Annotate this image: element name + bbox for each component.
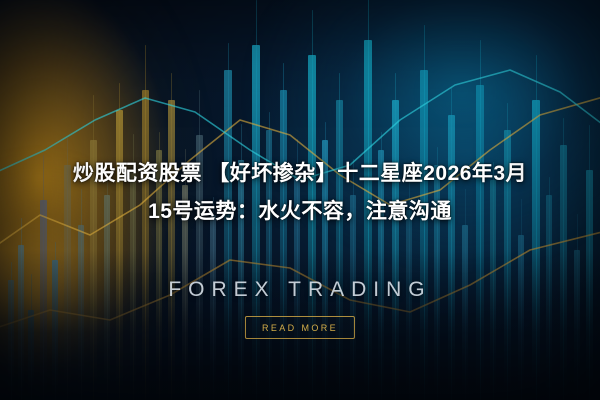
headline-line-2: 15号运势：水火不容，注意沟通 [10, 193, 590, 231]
read-more-button[interactable]: READ MORE [245, 316, 355, 339]
headline: 炒股配资股票 【好坏掺杂】十二星座2026年3月 15号运势：水火不容，注意沟通 [0, 155, 600, 231]
headline-line-1: 炒股配资股票 【好坏掺杂】十二星座2026年3月 [10, 155, 590, 193]
promo-banner: 炒股配资股票 【好坏掺杂】十二星座2026年3月 15号运势：水火不容，注意沟通… [0, 0, 600, 400]
brand-wordmark: FOREX TRADING [0, 278, 600, 302]
